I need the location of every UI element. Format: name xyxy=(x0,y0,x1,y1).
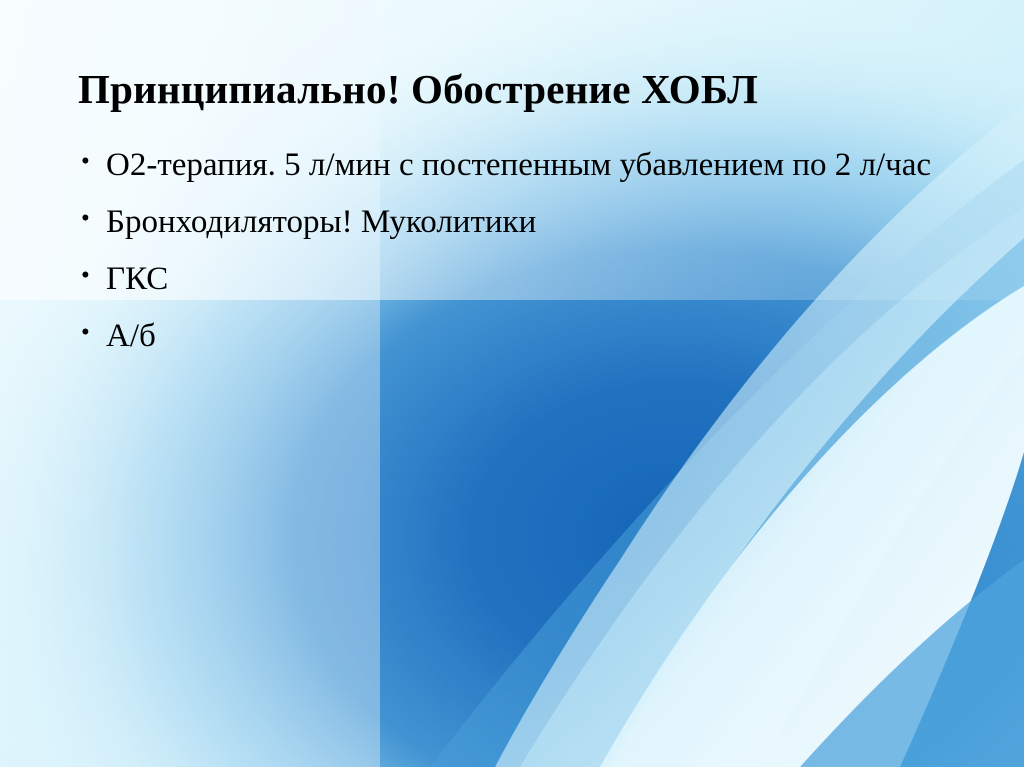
bullet-point-icon: • xyxy=(81,258,90,294)
list-item-label: ГКС xyxy=(106,258,970,301)
bullet-point-icon: • xyxy=(81,315,90,351)
presentation-slide: Принципиально! Обострение ХОБЛ • О2-тера… xyxy=(0,0,1024,767)
page-title: Принципиально! Обострение ХОБЛ xyxy=(78,67,958,111)
list-item: • ГКС xyxy=(70,258,970,301)
slide-content: Принципиально! Обострение ХОБЛ • О2-тера… xyxy=(0,0,1024,767)
list-item-label: О2-терапия. 5 л/мин с постепенным убавле… xyxy=(106,144,970,187)
bullet-point-icon: • xyxy=(81,201,90,237)
list-item-label: А/б xyxy=(106,315,970,358)
list-item: • Бронходилятоpы! Муколитики xyxy=(70,201,970,244)
list-item: • О2-терапия. 5 л/мин с постепенным убав… xyxy=(70,144,970,187)
list-item: • А/б xyxy=(70,315,970,358)
bullet-list: • О2-терапия. 5 л/мин с постепенным убав… xyxy=(70,144,970,372)
list-item-label: Бронходилятоpы! Муколитики xyxy=(106,201,970,244)
bullet-point-icon: • xyxy=(81,144,90,180)
